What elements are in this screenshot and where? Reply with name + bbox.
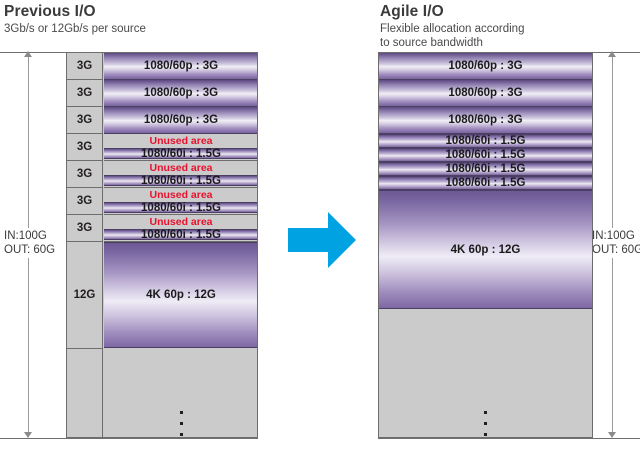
unused-row: Unused area 1080/60i : 1.5G bbox=[104, 188, 258, 215]
left-panel-subtitle: 3Gb/s or 12Gb/s per source bbox=[4, 23, 146, 37]
signal-band: 1080/60i : 1.5G bbox=[379, 134, 592, 148]
signal-band: 1080/60p : 3G bbox=[104, 107, 258, 134]
signal-band: 1080/60p : 3G bbox=[379, 53, 592, 80]
unused-row: Unused area 1080/60i : 1.5G bbox=[104, 161, 258, 188]
right-measure-arrow-down bbox=[608, 432, 616, 438]
signal-band: 1080/60p : 3G bbox=[104, 53, 258, 80]
signal-band-12g: 4K 60p : 12G bbox=[104, 242, 258, 348]
signal-band-label: 1080/60p : 3G bbox=[448, 114, 522, 126]
signal-band-label: 1080/60i : 1.5G bbox=[141, 148, 221, 160]
left-ellipsis bbox=[104, 408, 258, 438]
right-content-column: 1080/60p : 3G 1080/60p : 3G 1080/60p : 3… bbox=[379, 53, 592, 309]
rate-cell: 3G bbox=[67, 80, 102, 107]
rate-label: 3G bbox=[77, 114, 92, 126]
signal-band: 1080/60p : 3G bbox=[104, 80, 258, 107]
ellipsis-dot bbox=[484, 422, 487, 425]
rate-cell: 3G bbox=[67, 161, 102, 188]
right-stack: 1080/60p : 3G 1080/60p : 3G 1080/60p : 3… bbox=[378, 52, 593, 438]
unused-area-label: Unused area bbox=[104, 216, 258, 229]
left-io-out: OUT: 60G bbox=[4, 243, 55, 257]
signal-band: 1080/60i : 1.5G bbox=[104, 175, 258, 186]
right-panel-subtitle: Flexible allocation according to source … bbox=[380, 23, 524, 50]
signal-band-label: 1080/60i : 1.5G bbox=[141, 202, 221, 214]
signal-band: 1080/60i : 1.5G bbox=[104, 229, 258, 240]
right-io-out: OUT: 60G bbox=[592, 243, 640, 257]
unused-row: Unused area 1080/60i : 1.5G bbox=[104, 134, 258, 161]
signal-band-label: 1080/60p : 3G bbox=[144, 60, 218, 72]
ellipsis-dot bbox=[484, 433, 487, 436]
left-panel-title: Previous I/O bbox=[4, 3, 96, 21]
unused-area-label: Unused area bbox=[104, 135, 258, 148]
right-ellipsis bbox=[379, 408, 592, 438]
rate-label: 3G bbox=[77, 222, 92, 234]
signal-band-label: 1080/60i : 1.5G bbox=[446, 135, 526, 147]
left-bottom-rule bbox=[0, 438, 258, 439]
rate-label: 3G bbox=[77, 195, 92, 207]
right-panel-title: Agile I/O bbox=[380, 3, 444, 21]
ellipsis-dot bbox=[180, 411, 183, 414]
signal-band-label: 1080/60i : 1.5G bbox=[446, 163, 526, 175]
right-panel-subtitle-line2: to source bandwidth bbox=[380, 37, 524, 51]
signal-band: 1080/60i : 1.5G bbox=[379, 148, 592, 162]
signal-band: 1080/60p : 3G bbox=[379, 107, 592, 134]
unused-area-label: Unused area bbox=[104, 189, 258, 202]
rate-cell: 3G bbox=[67, 107, 102, 134]
rate-cell: 3G bbox=[67, 188, 102, 215]
signal-band-label: 1080/60i : 1.5G bbox=[446, 177, 526, 189]
signal-band-label: 4K 60p : 12G bbox=[146, 289, 216, 301]
signal-band: 1080/60p : 3G bbox=[379, 80, 592, 107]
signal-band-label: 1080/60p : 3G bbox=[448, 87, 522, 99]
signal-band-label: 1080/60p : 3G bbox=[448, 60, 522, 72]
rate-label: 3G bbox=[77, 141, 92, 153]
ellipsis-dot bbox=[484, 411, 487, 414]
signal-band-label: 1080/60p : 3G bbox=[144, 114, 218, 126]
ellipsis-dot bbox=[180, 422, 183, 425]
signal-band-label: 1080/60i : 1.5G bbox=[446, 149, 526, 161]
left-measure-arrow-up bbox=[24, 51, 32, 57]
rate-cell: 3G bbox=[67, 53, 102, 80]
left-io-label: IN:100G OUT: 60G bbox=[4, 228, 55, 258]
signal-band: 1080/60i : 1.5G bbox=[379, 176, 592, 190]
rate-label: 3G bbox=[77, 87, 92, 99]
signal-band-label: 1080/60i : 1.5G bbox=[141, 175, 221, 187]
right-measure-arrow-up bbox=[608, 51, 616, 57]
signal-band: 1080/60i : 1.5G bbox=[104, 202, 258, 213]
right-io-in: IN:100G bbox=[592, 229, 640, 243]
unused-row: Unused area 1080/60i : 1.5G bbox=[104, 215, 258, 242]
left-stack: 3G 3G 3G 3G 3G 3G 3G 12G 1080/60p : 3G 1… bbox=[66, 52, 258, 438]
left-rate-column: 3G 3G 3G 3G 3G 3G 3G 12G bbox=[67, 53, 103, 438]
ellipsis-dot bbox=[180, 433, 183, 436]
signal-band-label: 4K 60p : 12G bbox=[451, 244, 521, 256]
rate-cell-12g: 12G bbox=[67, 242, 102, 349]
signal-band: 1080/60i : 1.5G bbox=[104, 148, 258, 159]
left-io-in: IN:100G bbox=[4, 229, 55, 243]
unused-area-label: Unused area bbox=[104, 162, 258, 175]
signal-band-label: 1080/60i : 1.5G bbox=[141, 229, 221, 241]
rate-label: 3G bbox=[77, 168, 92, 180]
right-arrow-icon bbox=[288, 212, 356, 268]
right-bottom-rule bbox=[378, 438, 640, 439]
rate-label: 12G bbox=[74, 289, 96, 301]
right-io-label: IN:100G OUT: 60G bbox=[592, 228, 640, 258]
signal-band-12g: 4K 60p : 12G bbox=[379, 190, 592, 309]
left-measure-arrow-down bbox=[24, 432, 32, 438]
signal-band-label: 1080/60p : 3G bbox=[144, 87, 218, 99]
left-content-column: 1080/60p : 3G 1080/60p : 3G 1080/60p : 3… bbox=[104, 53, 258, 438]
rate-cell: 3G bbox=[67, 215, 102, 242]
signal-band: 1080/60i : 1.5G bbox=[379, 162, 592, 176]
rate-cell: 3G bbox=[67, 134, 102, 161]
right-panel-subtitle-line1: Flexible allocation according bbox=[380, 23, 524, 37]
rate-label: 3G bbox=[77, 60, 92, 72]
